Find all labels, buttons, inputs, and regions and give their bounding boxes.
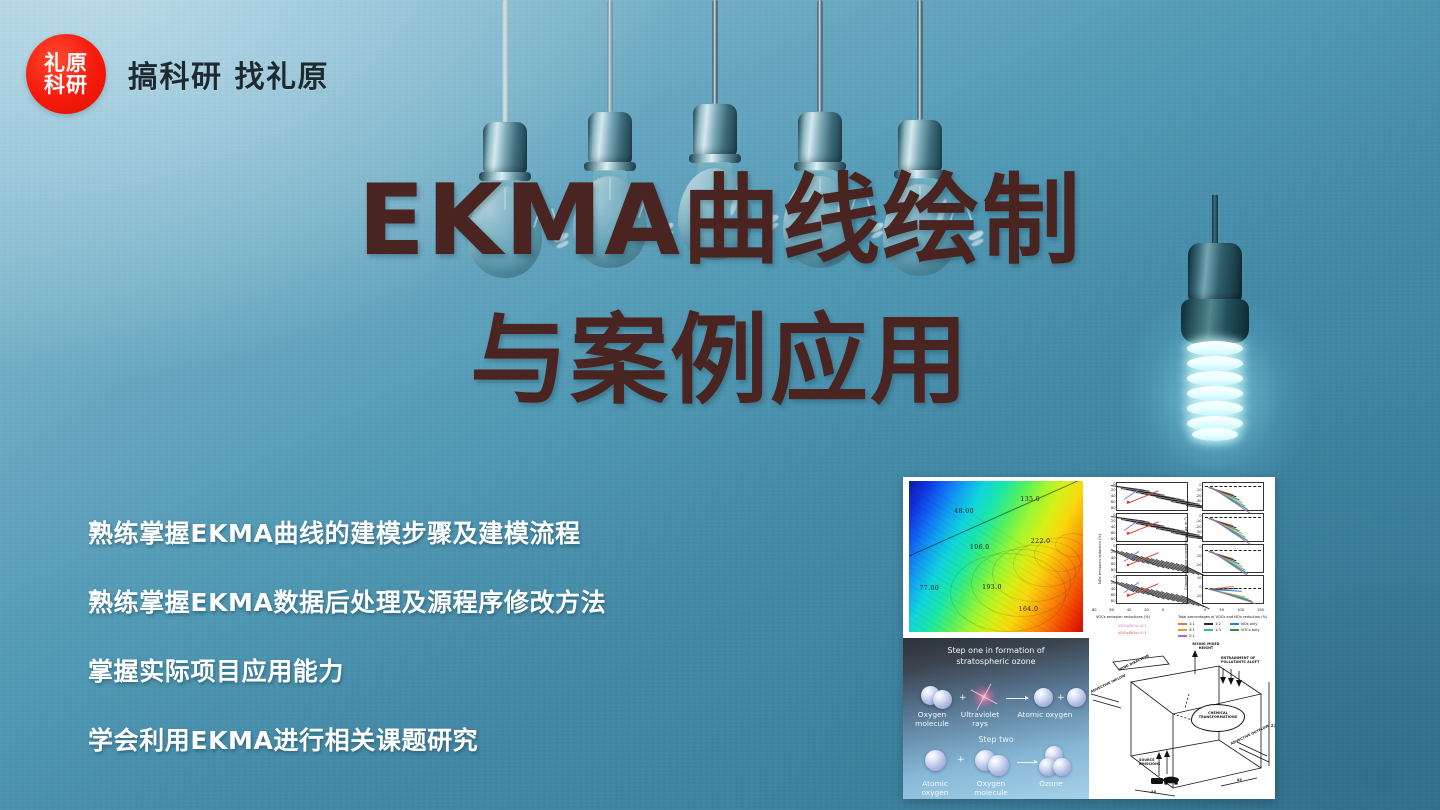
ratio-note: VOCs/NOx=2:1 (1118, 623, 1147, 628)
y-tick-label: 0 (1199, 515, 1201, 519)
y-tick-label: 10 (1197, 577, 1202, 581)
reaction-arrow-1 (1006, 698, 1028, 699)
y-tick-label: 80 (1111, 507, 1116, 511)
y-tick-label: -10 (1196, 489, 1202, 493)
bm-label-chemical-transformations: CHEMICAL TRANSFORMATIONS (1197, 711, 1239, 719)
zero-reference-line (1205, 550, 1260, 551)
bulb-cord (608, 0, 613, 112)
y-tick-label: -20 (1196, 564, 1202, 568)
contour-subplot: 020406080 (1116, 575, 1188, 604)
oxygen-atom-icon (933, 690, 952, 709)
bm-label-rising-mixed-height: RISING MIXED HEIGHT (1185, 642, 1227, 650)
x-tick-row-left: 806040200 (1092, 608, 1164, 612)
y-tick-label: 40 (1111, 495, 1116, 499)
y-tick-label: 0 (1113, 576, 1115, 580)
y-tick-label: -10 (1196, 595, 1202, 599)
logo-text-line2: 科研 (44, 74, 88, 96)
ozone-label-atomic-oxygen-2: Atomic oxygen (911, 779, 959, 797)
y-tick-label: 80 (1111, 569, 1116, 573)
y-tick-label: 20 (1111, 520, 1116, 524)
bulb-socket (588, 112, 632, 164)
y-tick-label: 80 (1111, 538, 1116, 542)
contour-subplot: 020406080 (1116, 513, 1188, 542)
ratio-note: VOCs/NOx=1:1 (1118, 630, 1147, 635)
y-tick-label: 0 (1199, 484, 1201, 488)
oxygen-atom-icon (1034, 688, 1053, 707)
brand-tagline: 搞科研 找礼原 (128, 52, 329, 96)
ekma-contour-label: 222.0 (1031, 538, 1051, 545)
contour-subplot: 020406080 (1116, 482, 1188, 511)
ozone-label-uv-rays: Ultraviolet rays (957, 710, 1003, 728)
y-tick-label: 20 (1111, 551, 1116, 555)
legend-label: 1:3 (1215, 628, 1221, 632)
bulb-cord (918, 0, 923, 120)
legend-label: NOx only (1241, 622, 1257, 626)
list-item: 学会利用EKMA进行相关课题研究 (88, 721, 606, 757)
contour-column: 020406080020406080020406080020406080 (1116, 482, 1188, 606)
list-item: 熟练掌握EKMA曲线的建模步骤及建模流程 (88, 514, 606, 550)
y-tick-label: -40 (1196, 537, 1202, 541)
ozone-label-atomic-oxygen: Atomic oxygen (1015, 710, 1075, 719)
plus-sign-3: + (957, 755, 965, 765)
y-tick-label: 60 (1111, 563, 1116, 567)
y-tick-label: 20 (1111, 582, 1116, 586)
y-tick-label: -40 (1196, 506, 1202, 510)
y-tick-label: 0 (1113, 545, 1115, 549)
legend-item: 3:1 (1178, 628, 1195, 632)
bm-label-dy: ΔY (1237, 778, 1242, 782)
plus-sign-2: + (1057, 693, 1065, 703)
bulb-cord (713, 0, 718, 104)
series-line (1211, 518, 1250, 545)
line-subplot: 0-10-20-30-40 (1202, 513, 1264, 542)
panel-small-multiples: 0204060800204060800204060800204060808060… (1089, 477, 1275, 638)
legend-item: VOCs only (1230, 628, 1259, 632)
series-line (1211, 487, 1250, 514)
zero-reference-line (1205, 486, 1260, 487)
legend-swatch (1230, 623, 1239, 624)
bulb-socket (693, 104, 737, 156)
ultraviolet-burst-icon (969, 682, 999, 712)
y-tick-label: -30 (1196, 500, 1202, 504)
bm-label-source-emissions: SOURCE EMISSIONS (1139, 758, 1169, 766)
legend-label: 1:1 (1189, 622, 1195, 626)
lines-column: 0-10-20-30-400-10-20-30-400-10-20100-10 (1202, 482, 1264, 606)
reaction-arrow-2 (1017, 762, 1037, 763)
ekma-contour-label: 193.0 (982, 584, 1002, 591)
ekma-contour-label: 106.0 (970, 544, 990, 551)
legend-label: 3:1 (1189, 628, 1195, 632)
legend-label: VOCs only (1241, 628, 1259, 632)
x-tick-row-right: 050100150 (1204, 608, 1264, 612)
line-subplot: 0-10-20-30-40 (1202, 482, 1264, 511)
y-axis-label-left: NOx emission reduction (%) (1098, 534, 1102, 584)
series-line (1211, 551, 1250, 578)
panel-ekma-contour: 48.00135.0106.0222.077.00193.0164.0 (903, 477, 1089, 638)
bm-label-dx: ΔX (1151, 790, 1156, 794)
ozone-atom-icon (1053, 758, 1071, 776)
slide-canvas: 礼原 科研 搞科研 找礼原 EKMA曲线绘制 与案例应用 熟练掌握EKMA曲线的… (0, 0, 1440, 810)
x-axis-label-left: VOCs emission reductions (%) (1096, 615, 1150, 619)
bm-label-entrainment: ENTRAINMENT OF POLLUTANTS ALOFT (1221, 656, 1269, 664)
y-tick-label: 40 (1111, 526, 1116, 530)
y-tick-label: 0 (1113, 483, 1115, 487)
ekma-contour-lobe (950, 553, 1066, 632)
bulb-cord (503, 0, 508, 122)
y-axis-label-right: Change of ozone concentration (µg m⁻³) (1184, 517, 1188, 590)
y-tick-label: -20 (1196, 495, 1202, 499)
panel-box-model: RISING MIXED HEIGHT ENTRAINMENT OF POLLU… (1089, 638, 1275, 799)
ekma-contour-label: 135.0 (1020, 496, 1040, 503)
page-title-line2: 与案例应用 (0, 312, 1440, 410)
list-item: 熟练掌握EKMA数据后处理及源程序修改方法 (88, 583, 606, 619)
small-multiples-chart: 0204060800204060800204060800204060808060… (1092, 480, 1273, 636)
line-subplot: 0-10-20 (1202, 544, 1264, 573)
legend-item: 1:2 (1204, 622, 1221, 626)
y-tick-label: -30 (1196, 531, 1202, 535)
plus-sign-1: + (959, 693, 967, 703)
y-tick-label: -10 (1196, 555, 1202, 559)
ozone-label-oxygen-molecule: Oxygen molecule (909, 710, 955, 728)
ekma-contour-plot: 48.00135.0106.0222.077.00193.0164.0 (909, 481, 1083, 632)
y-tick-label: 60 (1111, 594, 1116, 598)
objectives-list: 熟练掌握EKMA曲线的建模步骤及建模流程 熟练掌握EKMA数据后处理及源程序修改… (88, 514, 606, 757)
y-tick-label: 60 (1111, 532, 1116, 536)
ozone-formation-diagram: Step one in formation of stratospheric o… (903, 638, 1089, 799)
legend-label: 1:2 (1215, 622, 1221, 626)
ozone-title-line2: stratospheric ozone (903, 657, 1089, 667)
logo-circle-badge: 礼原 科研 (26, 34, 106, 114)
y-tick-label: 40 (1111, 557, 1116, 561)
line-subplot: 100-10 (1202, 575, 1264, 604)
list-item: 掌握实际项目应用能力 (88, 652, 606, 688)
oxygen-atom-icon (1067, 688, 1086, 707)
ozone-label-oxygen-molecule-2: Oxygen molecule (963, 779, 1019, 797)
legend-swatch (1204, 623, 1213, 624)
bm-label-height: Z(t) (1271, 724, 1275, 728)
ekma-contour-label: 77.00 (919, 585, 939, 592)
oxygen-atom-icon (925, 750, 946, 771)
y-tick-label: -10 (1196, 520, 1202, 524)
y-tick-label: 20 (1111, 489, 1116, 493)
zero-reference-line (1205, 517, 1260, 518)
y-tick-label: 80 (1111, 600, 1116, 604)
ozone-label-ozone: Ozone (1029, 779, 1073, 788)
brand-logo: 礼原 科研 搞科研 找礼原 (26, 34, 329, 114)
y-tick-label: -20 (1196, 526, 1202, 530)
y-tick-label: 0 (1199, 546, 1201, 550)
legend-item: 1:1 (1178, 622, 1195, 626)
y-tick-label: 40 (1111, 588, 1116, 592)
x-axis-label-right: Total percentages of VOCs and NOx reduct… (1178, 615, 1267, 619)
figure-collage: 48.00135.0106.0222.077.00193.0164.0 0204… (903, 477, 1275, 799)
ozone-title-line1: Step one in formation of (903, 646, 1089, 656)
bulb-socket (798, 112, 842, 164)
page-title-line1: EKMA曲线绘制 (0, 172, 1440, 270)
legend-swatch (1178, 629, 1187, 630)
box-model-diagram: RISING MIXED HEIGHT ENTRAINMENT OF POLLU… (1089, 638, 1275, 799)
bulb-cord (818, 0, 823, 112)
legend-item: 1:3 (1204, 628, 1221, 632)
logo-text-line1: 礼原 (44, 52, 88, 74)
y-tick-label: 60 (1111, 501, 1116, 505)
legend-swatch (1230, 629, 1239, 630)
y-tick-label: 0 (1199, 586, 1201, 590)
legend-item: NOx only (1230, 622, 1257, 626)
legend-swatch (1178, 623, 1187, 624)
legend-swatch (1204, 629, 1213, 630)
y-tick-label: 0 (1113, 514, 1115, 518)
ekma-contour-label: 164.0 (1019, 606, 1039, 613)
bulb-collar (689, 154, 741, 163)
contour-subplot: 020406080 (1116, 544, 1188, 573)
ekma-contour-label: 48.00 (954, 508, 974, 515)
panel-ozone-formation: Step one in formation of stratospheric o… (903, 638, 1089, 799)
ozone-step-two-title: Step two (903, 735, 1089, 744)
legend-swatch (1178, 635, 1187, 636)
oxygen-atom-icon (988, 755, 1009, 776)
